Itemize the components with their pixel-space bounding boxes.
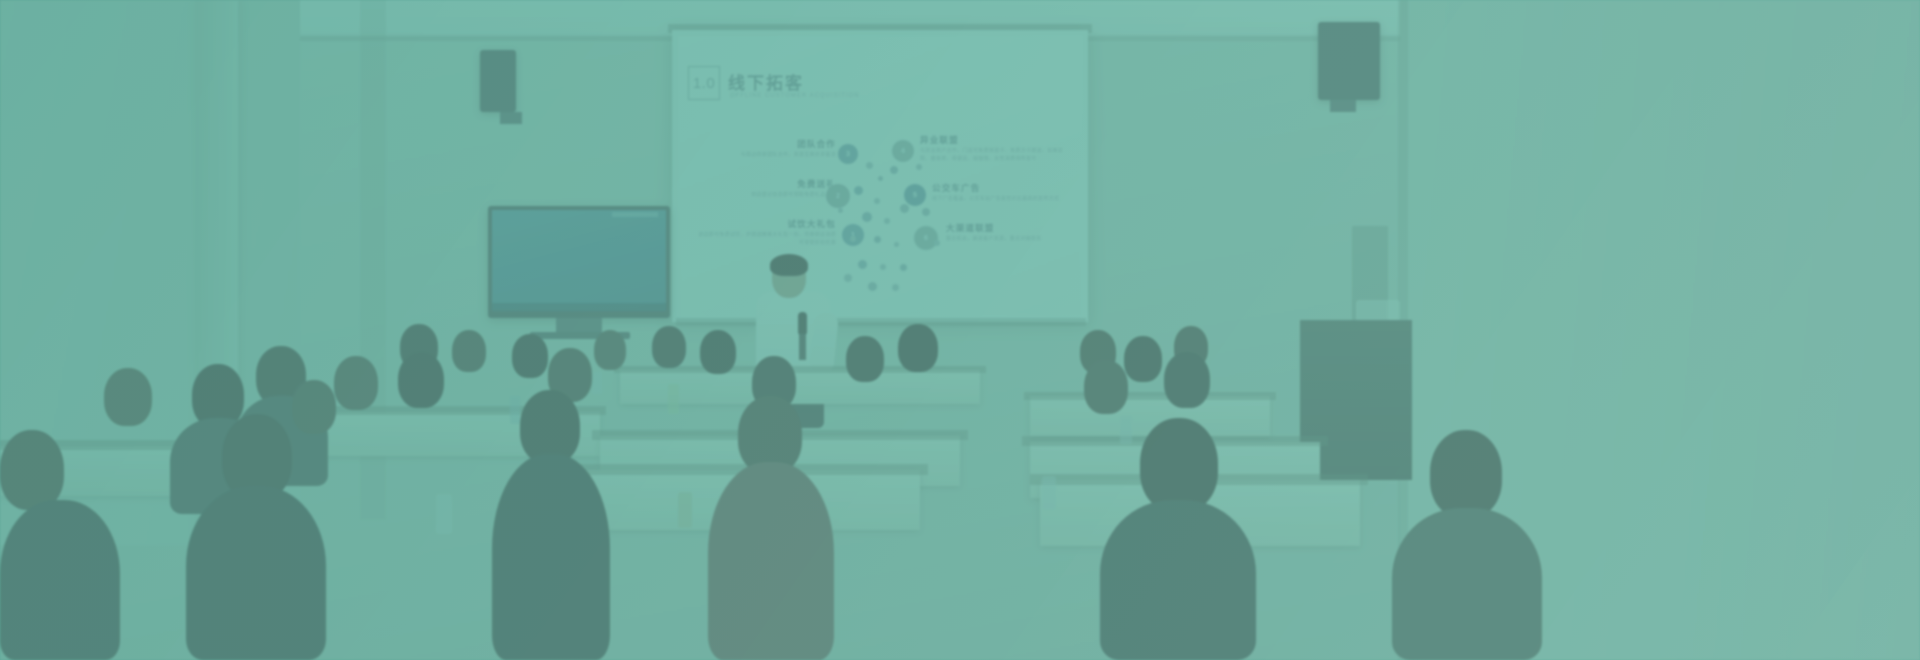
overlay-lift [0,0,1920,660]
seminar-photo-banner: 1.0 线下拓客 OFFLINE CUSTOMER ACQUISITION 团队… [0,0,1920,660]
